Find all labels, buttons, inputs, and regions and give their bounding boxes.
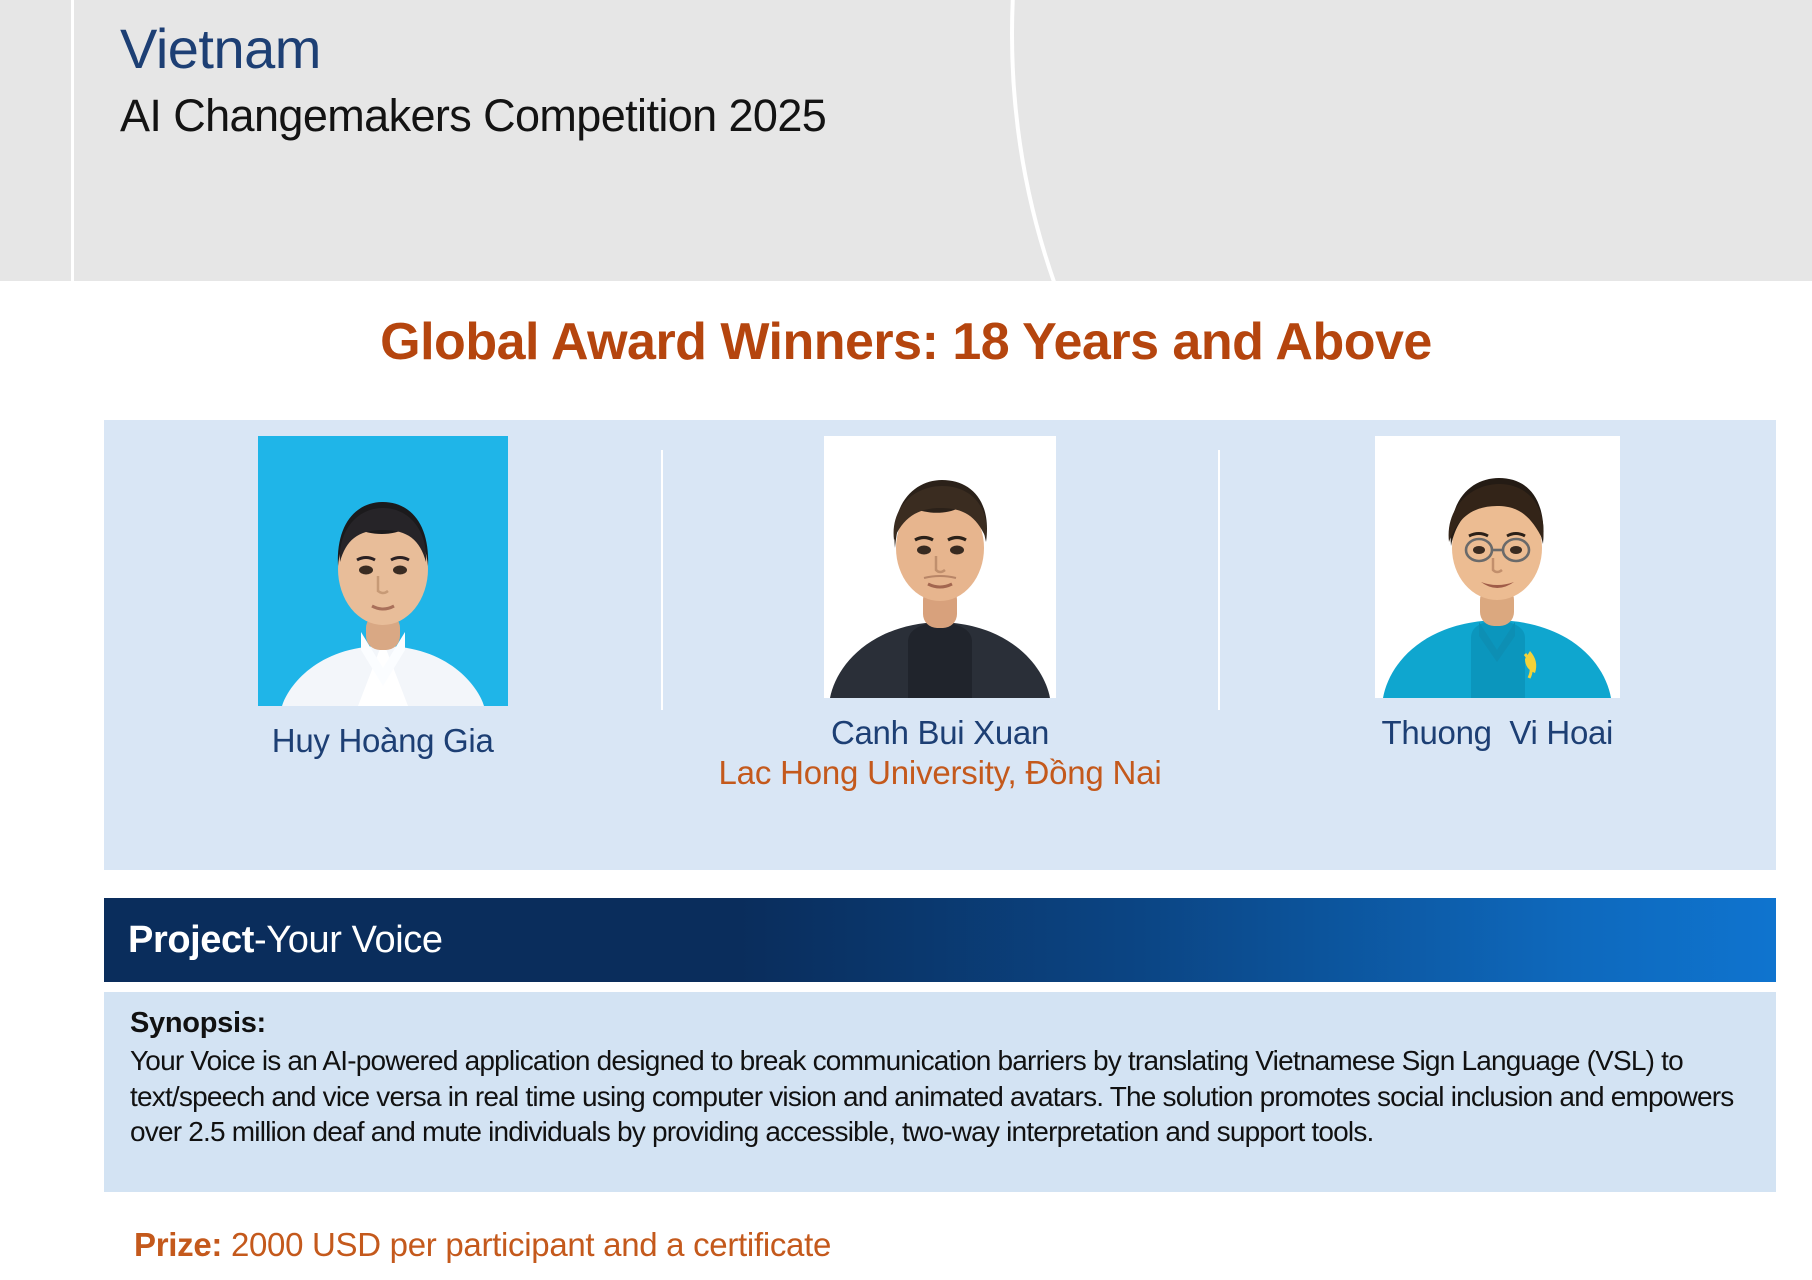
- winner-photo-1: [258, 436, 508, 706]
- project-label: Project: [128, 919, 254, 962]
- portrait-illustration-1: [258, 436, 508, 706]
- synopsis-text: Your Voice is an AI-powered application …: [130, 1043, 1750, 1150]
- synopsis-label: Synopsis:: [130, 1006, 1750, 1041]
- synopsis-box: Synopsis: Your Voice is an AI-powered ap…: [104, 992, 1776, 1192]
- project-name: Your Voice: [266, 919, 442, 962]
- page-header: Vietnam AI Changemakers Competition 2025: [0, 0, 1812, 281]
- prize-label: Prize:: [134, 1226, 222, 1263]
- portrait-illustration-3: [1375, 436, 1620, 698]
- portrait-illustration-2: [824, 436, 1056, 698]
- project-bar: Project - Your Voice: [104, 898, 1776, 982]
- header-text-block: Vietnam AI Changemakers Competition 2025: [120, 14, 826, 147]
- winners-panel: Huy Hoàng Gia: [104, 420, 1776, 870]
- winner-card-1: Huy Hoàng Gia: [104, 420, 661, 760]
- header-arc-decoration: [1010, 0, 1812, 281]
- prize-line: Prize: 2000 USD per participant and a ce…: [134, 1226, 831, 1264]
- competition-name: AI Changemakers Competition 2025: [120, 86, 826, 147]
- university-name: Lac Hong University, Đồng Nai: [104, 754, 1776, 792]
- winner-name-2: Canh Bui Xuan: [831, 714, 1049, 752]
- prize-value: 2000 USD per participant and a certifica…: [222, 1226, 831, 1263]
- country-name: Vietnam: [120, 14, 826, 84]
- winner-photo-2: [824, 436, 1056, 698]
- winner-card-2: Canh Bui Xuan: [661, 420, 1218, 752]
- winners-row: Huy Hoàng Gia: [104, 420, 1776, 750]
- award-category-title: Global Award Winners: 18 Years and Above: [0, 312, 1812, 372]
- winner-name-3: Thuong Vi Hoai: [1382, 714, 1614, 752]
- winner-card-3: Thuong Vi Hoai: [1219, 420, 1776, 752]
- project-separator: -: [254, 919, 266, 962]
- header-left-strip: [0, 0, 74, 281]
- winner-photo-3: [1375, 436, 1620, 698]
